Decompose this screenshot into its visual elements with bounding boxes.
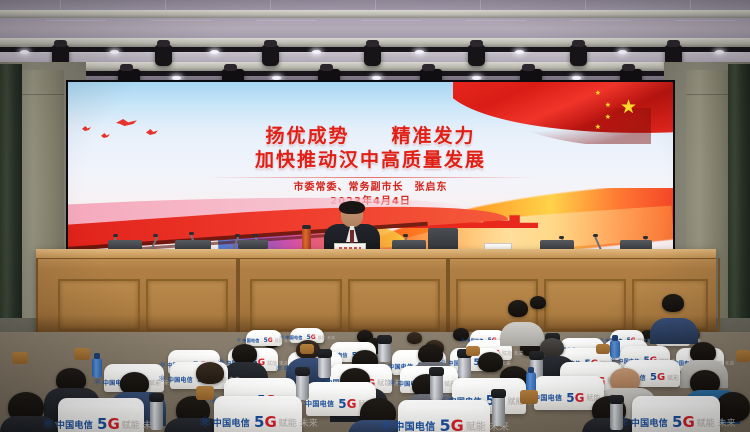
china-telecom-mark-icon: ⚛: [460, 337, 465, 344]
audience-shoulders: [650, 318, 698, 344]
china-telecom-mark-icon: ⚛: [275, 364, 283, 374]
china-telecom-5g-logo: ⚛中国电信5G赋能 未来: [405, 421, 482, 430]
china-telecom-mark-icon: ⚛: [198, 413, 211, 431]
logo-g: G: [347, 397, 357, 411]
audience-head: [196, 362, 224, 384]
logo-g: G: [575, 391, 585, 405]
logo-g: G: [451, 416, 464, 432]
china-telecom-5g-logo: ⚛中国电信5G赋能 未来: [249, 339, 279, 343]
brand-cn: 中国电信: [631, 416, 668, 429]
ceiling-beam: [0, 10, 750, 18]
logo-g: G: [268, 337, 273, 344]
logo-g: G: [107, 415, 119, 432]
logo-5: 5: [440, 416, 451, 432]
logo-tagline: 赋能 未来: [502, 350, 524, 357]
chair-frame: [736, 350, 750, 362]
china-telecom-mark-icon: ⚛: [236, 337, 241, 344]
china-telecom-mark-icon: ⚛: [379, 416, 393, 432]
china-telecom-5g-logo: ⚛中国电信5G赋能 未来: [639, 418, 713, 428]
logo-5: 5: [254, 413, 264, 431]
logo-tagline: 赋能 未来: [279, 416, 318, 429]
chair-cover: ⚛中国电信5G赋能 未来: [214, 396, 302, 432]
brand-cn: 中国电信: [305, 399, 334, 409]
chair-cover: ⚛中国电信5G赋能 未来: [632, 396, 720, 432]
logo-5: 5: [566, 391, 574, 405]
audience-head: [232, 344, 257, 364]
audience-head: [508, 300, 528, 317]
conference-hall-photo: ★ ★ ★ ★ ★ 扬优成势 精准发力 加快推动汉中高质量发展 市委常委、常务副…: [0, 0, 750, 432]
chair-cover: ⚛中国电信5G赋能 未来: [58, 398, 144, 432]
audience-head: [418, 344, 443, 364]
logo-5: 5: [338, 397, 346, 411]
logo-g: G: [264, 413, 276, 431]
thermos-flask: [150, 400, 163, 430]
thermos-flask: [378, 342, 391, 362]
china-telecom-5g-logo: ⚛中国电信5G赋能 未来: [65, 420, 137, 430]
screen-title-line2: 加快推动汉中高质量发展: [68, 148, 673, 173]
chair-frame: [74, 348, 90, 360]
logo-tagline: 赋能 未来: [697, 416, 736, 429]
thermos-flask: [430, 374, 443, 400]
china-telecom-mark-icon: ⚛: [388, 378, 397, 389]
thermos-flask: [318, 356, 331, 378]
chair-cover: ⚛中国电信5G赋能 未来: [246, 330, 282, 346]
chair-cover: ⚛中国电信5G赋能 未来: [398, 400, 490, 432]
logo-tagline: 赋能 未来: [318, 335, 335, 341]
brand-cn: 中国电信: [168, 375, 193, 384]
chair-frame: [596, 344, 610, 354]
china-telecom-5g-logo: ⚛中国电信5G赋能 未来: [221, 418, 295, 428]
audience-head: [407, 332, 422, 344]
audience-head: [662, 294, 684, 312]
chair-frame: [196, 386, 214, 400]
logo-5: 5: [97, 415, 107, 432]
china-telecom-mark-icon: ⚛: [41, 415, 54, 432]
brand-cn: 中国电信: [213, 416, 250, 429]
china-telecom-mark-icon: ⚛: [279, 334, 284, 341]
thermos-flask: [296, 374, 309, 400]
podium-desk: [36, 249, 716, 341]
water-bottle: [92, 358, 102, 378]
thermos-flask: [492, 396, 505, 426]
logo-5: 5: [650, 372, 657, 383]
china-telecom-mark-icon: ⚛: [93, 377, 102, 388]
chair-frame: [12, 352, 28, 364]
china-telecom-5g-logo: ⚛中国电信5G赋能 未来: [540, 394, 599, 402]
logo-g: G: [682, 413, 694, 431]
audience-head: [530, 296, 546, 309]
audience-head: [478, 352, 503, 372]
brand-cn: 中国电信: [285, 335, 302, 341]
brand-cn: 中国电信: [394, 418, 435, 432]
audience-shoulders: [500, 322, 544, 346]
thermos-flask: [610, 402, 623, 430]
logo-g: G: [657, 372, 665, 383]
water-bottle: [610, 340, 620, 358]
logo-5: 5: [672, 413, 682, 431]
chair-frame: [300, 344, 314, 354]
chair-frame: [520, 390, 538, 404]
thermos-flask: [458, 356, 471, 378]
screen-title-line1: 扬优成势 精准发力: [68, 124, 673, 148]
brand-cn: 中国电信: [242, 338, 259, 344]
title-divider: [206, 177, 536, 178]
chair-frame: [466, 346, 480, 356]
china-telecom-mark-icon: ⚛: [158, 374, 167, 385]
brand-cn: 中国电信: [56, 418, 93, 431]
